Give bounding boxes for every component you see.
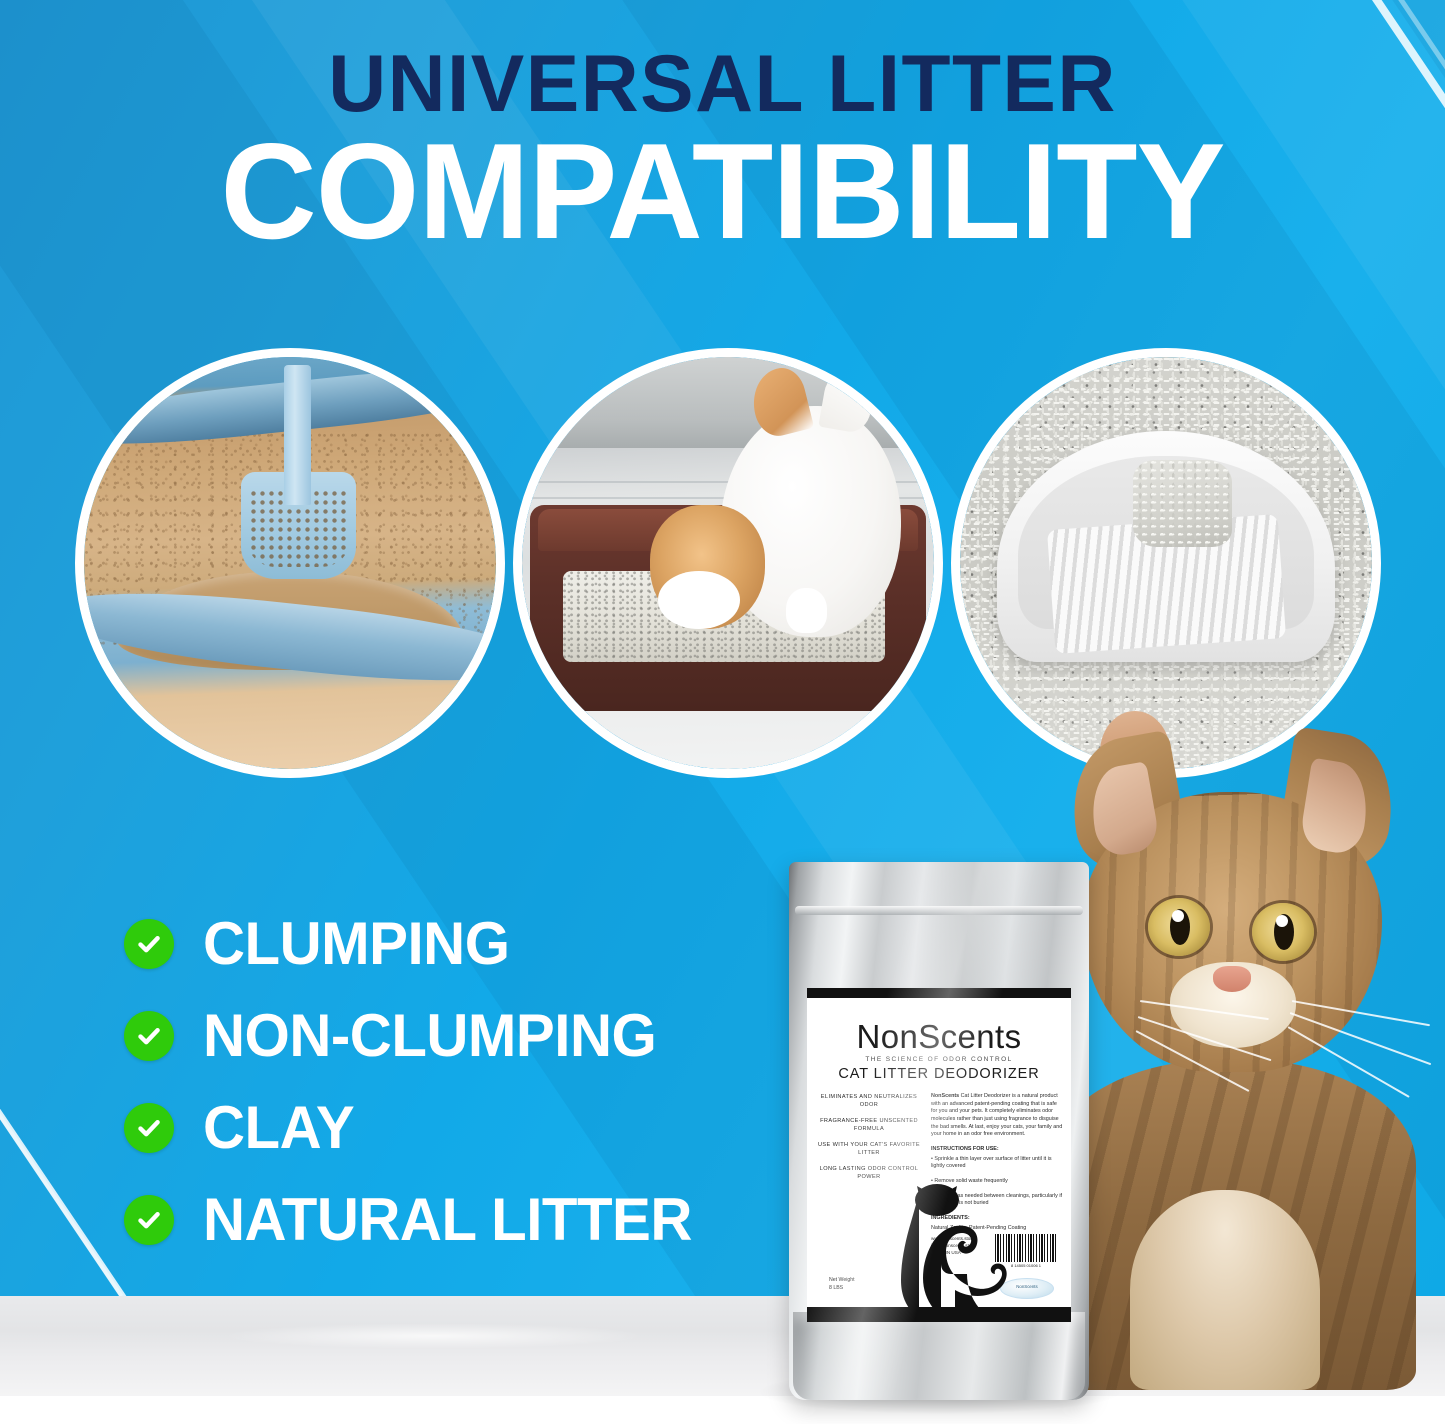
litter-clump (1133, 460, 1232, 547)
checklist-label: CLUMPING (203, 914, 510, 974)
instructions-heading: INSTRUCTIONS FOR USE: (931, 1146, 1063, 1154)
cat-eye-glint-left (1172, 910, 1184, 922)
benefit-item: USE WITH YOUR CAT'S FAVORITE LITTER (817, 1142, 921, 1157)
infographic-page: UNIVERSAL LITTER COMPATIBILITY (0, 0, 1445, 1424)
cat-eye-glint-right (1276, 915, 1288, 927)
label-bottom-black-bar (807, 1307, 1071, 1322)
cat-chest (1130, 1190, 1320, 1390)
floor-bottom-white (0, 1396, 1445, 1424)
photo-circle-kitten (513, 348, 943, 778)
checklist-label: NATURAL LITTER (203, 1190, 692, 1250)
net-weight-block: Net Weight 8 LBS (829, 1277, 855, 1293)
product-package: NonScents THE SCIENCE OF ODOR CONTROL CA… (789, 862, 1089, 1400)
kitten-cheek (658, 571, 740, 629)
label-benefits-column: ELIMINATES AND NEUTRALIZES ODOR FRAGRANC… (817, 1094, 921, 1190)
check-icon (124, 1103, 174, 1153)
headline-block: UNIVERSAL LITTER COMPATIBILITY (0, 46, 1445, 254)
kitten-paw (786, 588, 827, 633)
checklist-label: NON-CLUMPING (203, 1006, 656, 1066)
checklist-label: CLAY (203, 1098, 354, 1158)
headline-line-2: COMPATIBILITY (14, 128, 1430, 254)
brand-tagline: THE SCIENCE OF ODOR CONTROL (807, 1056, 1071, 1063)
headline-line-1: UNIVERSAL LITTER (7, 46, 1438, 124)
checklist-item-clumping[interactable]: CLUMPING (124, 898, 707, 990)
product-label: NonScents THE SCIENCE OF ODOR CONTROL CA… (807, 998, 1071, 1318)
benefit-item: FRAGRANCE-FREE UNSCENTED FORMULA (817, 1118, 921, 1133)
brand-name: NonScents (807, 1018, 1071, 1056)
product-description: NonScents Cat Litter Deodorizer is a nat… (931, 1093, 1063, 1139)
instruction-item: • Sprinkle a thin layer over surface of … (931, 1156, 1063, 1171)
scoop-handle (284, 365, 311, 505)
product-name: CAT LITTER DEODORIZER (807, 1066, 1071, 1082)
check-icon (124, 1011, 174, 1061)
check-icon (124, 1195, 174, 1245)
description-text: Cat Litter Deodorizer is a natural produ… (931, 1093, 1062, 1137)
litter-type-checklist: CLUMPING NON-CLUMPING CLAY (124, 898, 707, 1266)
checklist-item-non-clumping[interactable]: NON-CLUMPING (124, 990, 707, 1082)
pouch-bottom-gusset (793, 1312, 1085, 1400)
net-weight-label: Net Weight (829, 1277, 855, 1285)
cat-silhouette-icon (861, 1180, 1011, 1314)
net-weight-value: 8 LBS (829, 1285, 855, 1293)
instruction-text: Sprinkle a thin layer over surface of li… (931, 1156, 1052, 1170)
description-brand: NonScents (931, 1093, 959, 1099)
check-icon (124, 919, 174, 969)
benefit-item: ELIMINATES AND NEUTRALIZES ODOR (817, 1094, 921, 1109)
checklist-item-natural-litter[interactable]: NATURAL LITTER (124, 1174, 707, 1266)
pouch-zip-seam (795, 906, 1083, 915)
checklist-item-clay[interactable]: CLAY (124, 1082, 707, 1174)
photo-circle-clumping (75, 348, 505, 778)
cat-nose (1213, 966, 1251, 992)
